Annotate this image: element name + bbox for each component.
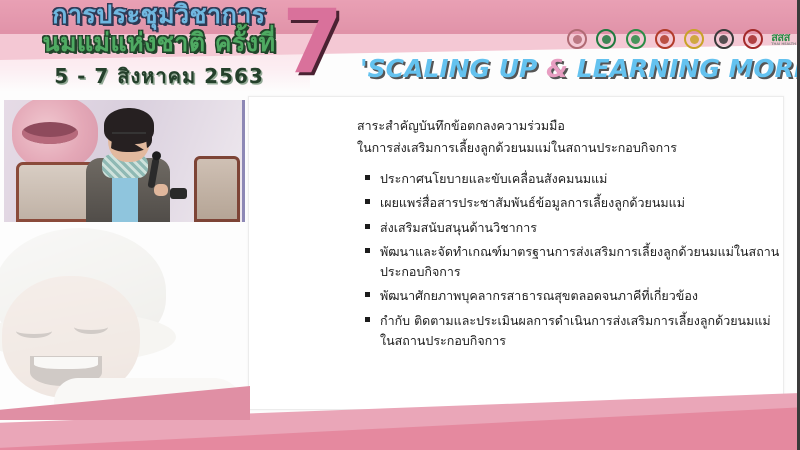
logo-garuda-gold-icon (683, 28, 705, 50)
chair-right (194, 156, 240, 222)
child-eye-right (74, 320, 108, 334)
logo-thaihealth-icon: สสส THAI HEALTH (771, 32, 796, 46)
logo-health-green-2-icon (625, 28, 647, 50)
content-heading-line2: ในการส่งเสริมการเลี้ยงลูกด้วยนมแม่ในสถาน… (357, 137, 777, 159)
logo-royal-emblem-icon (566, 28, 588, 50)
list-item: เผยแพร่สื่อสารประชาสัมพันธ์ข้อมูลการเลี้… (365, 193, 785, 213)
conference-title-line1: การประชุมวิชาการ (14, 2, 304, 27)
list-item: ส่งเสริมสนับสนุนด้านวิชาการ (365, 218, 785, 238)
partner-logos-row: สสส THAI HEALTH (566, 26, 796, 52)
presentation-slide: การประชุมวิชาการ นมแม่แห่งชาติ ครั้งที่ … (0, 0, 800, 450)
backdrop-mouth-graphic (12, 100, 98, 170)
child-photo-watermark (0, 228, 242, 418)
conference-date: 5 - 7 สิงหาคม 2563 (14, 60, 304, 92)
list-item: ประกาศนโยบายและขับเคลื่อนสังคมนมแม่ (365, 169, 785, 189)
edition-number: 7 (282, 0, 343, 86)
tagline-part2: LEARNING MORE' (568, 54, 800, 83)
logo-crown-red-icon (654, 28, 676, 50)
content-heading: สาระสำคัญบันทึกข้อตกลงความร่วมมือ ในการส… (357, 115, 777, 159)
speaker-glasses-icon (112, 132, 146, 142)
tagline-part1: 'SCALING UP (360, 54, 546, 83)
speaker-hand (154, 184, 168, 196)
conference-title-line2: นมแม่แห่งชาติ ครั้งที่ (14, 30, 304, 55)
conference-tagline: 'SCALING UP & LEARNING MORE' (360, 56, 790, 81)
list-item: พัฒนาศักยภาพบุคลากรสาธารณสุขตลอดจนภาคีที… (365, 286, 785, 306)
child-teeth (34, 357, 98, 369)
logo-black-seal-icon (713, 28, 735, 50)
list-item: กำกับ ติดตามและประเมินผลการดำเนินการส่งเ… (365, 311, 785, 352)
presentation-clicker-icon (170, 188, 187, 199)
logo-dark-red-seal-icon (742, 28, 764, 50)
content-heading-line1: สาระสำคัญบันทึกข้อตกลงความร่วมมือ (357, 115, 777, 137)
speaker-video-thumbnail[interactable] (4, 100, 245, 222)
logo-health-green-1-icon (595, 28, 617, 50)
content-card: สาระสำคัญบันทึกข้อตกลงความร่วมมือ ในการส… (248, 96, 784, 410)
list-item: พัฒนาและจัดทำเกณฑ์มาตรฐานการส่งเสริมการเ… (365, 242, 785, 283)
child-eye-left (16, 324, 52, 338)
logo-thaihealth-subtext: THAI HEALTH (771, 43, 796, 46)
tagline-ampersand: & (546, 54, 568, 83)
conference-title-block: การประชุมวิชาการ นมแม่แห่งชาติ ครั้งที่ … (14, 2, 304, 92)
content-bullet-list: ประกาศนโยบายและขับเคลื่อนสังคมนมแม่ เผยแ… (365, 169, 785, 355)
